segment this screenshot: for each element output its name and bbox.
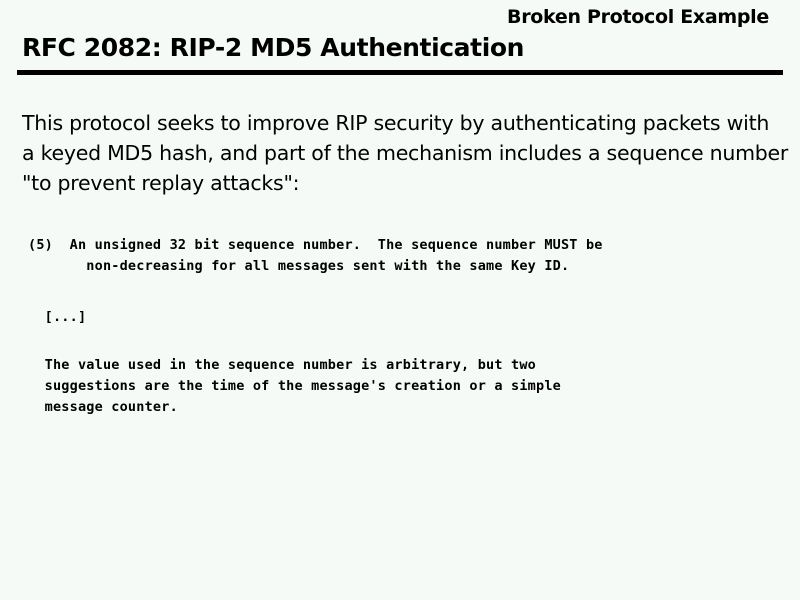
intro-line: This protocol seeks to improve RIP secur…	[22, 108, 774, 138]
intro-line: a keyed MD5 hash, and part of the mechan…	[22, 138, 774, 168]
intro-paragraph: This protocol seeks to improve RIP secur…	[22, 108, 774, 198]
title-divider	[17, 70, 783, 75]
rfc-quote-item: (5) An unsigned 32 bit sequence number. …	[28, 235, 603, 277]
rfc-quote-ellipsis: [...]	[28, 307, 86, 328]
slide-kicker: Broken Protocol Example	[507, 7, 769, 28]
page-title: RFC 2082: RIP-2 MD5 Authentication	[22, 34, 524, 62]
rfc-quote-paragraph: The value used in the sequence number is…	[28, 355, 561, 418]
slide: Broken Protocol Example RFC 2082: RIP-2 …	[0, 0, 800, 600]
intro-line: "to prevent replay attacks":	[22, 168, 774, 198]
